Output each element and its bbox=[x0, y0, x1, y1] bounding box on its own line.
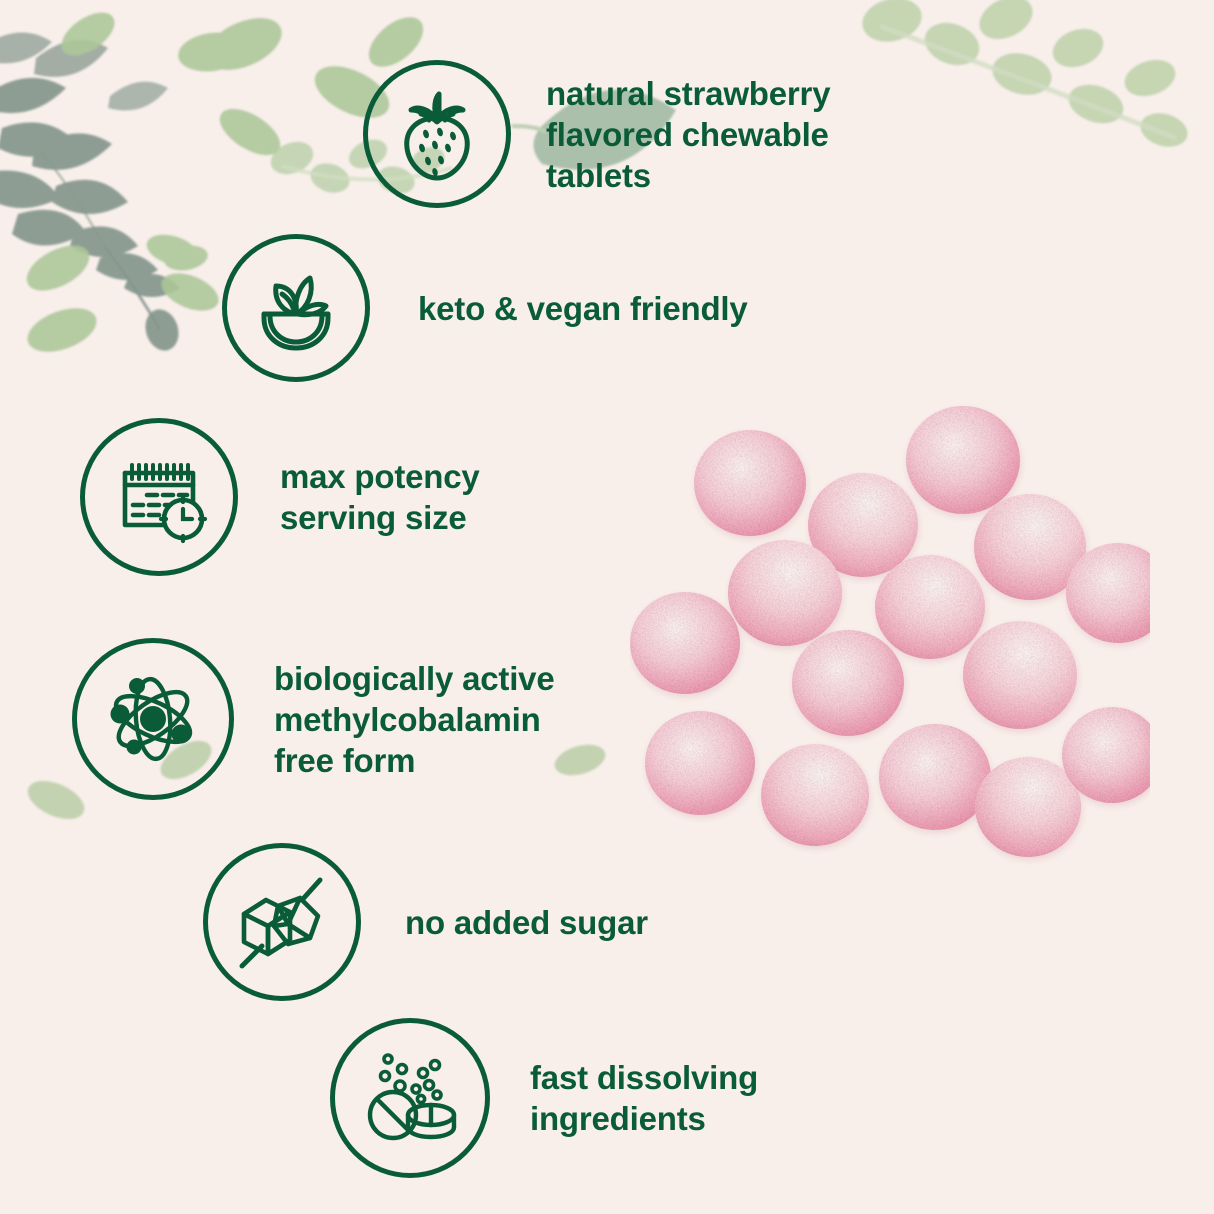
feature-label: biologically active methylcobalamin free… bbox=[274, 658, 554, 781]
feature-label: max potency serving size bbox=[280, 456, 480, 538]
feature-label: keto & vegan friendly bbox=[418, 288, 748, 329]
no-sugar-cubes-icon bbox=[203, 843, 361, 1001]
strawberry-icon bbox=[363, 60, 511, 208]
calendar-clock-icon bbox=[80, 418, 238, 576]
feature-no-added-sugar: no added sugar bbox=[203, 843, 648, 1001]
feature-label: natural strawberry flavored chewable tab… bbox=[546, 73, 830, 196]
atom-icon bbox=[72, 638, 234, 800]
infographic-canvas: natural strawberry flavored chewable tab… bbox=[0, 0, 1214, 1214]
dissolving-tablets-icon bbox=[330, 1018, 490, 1178]
feature-fast-dissolving: fast dissolving ingredients bbox=[330, 1018, 758, 1178]
feature-keto-vegan: keto & vegan friendly bbox=[222, 234, 748, 382]
feature-natural-strawberry: natural strawberry flavored chewable tab… bbox=[363, 60, 830, 208]
bowl-with-leaves-icon bbox=[222, 234, 370, 382]
product-photo-tablets bbox=[630, 395, 1150, 865]
feature-max-potency: max potency serving size bbox=[80, 418, 480, 576]
feature-label: fast dissolving ingredients bbox=[530, 1057, 758, 1139]
feature-methylcobalamin: biologically active methylcobalamin free… bbox=[72, 638, 554, 800]
feature-label: no added sugar bbox=[405, 902, 648, 943]
